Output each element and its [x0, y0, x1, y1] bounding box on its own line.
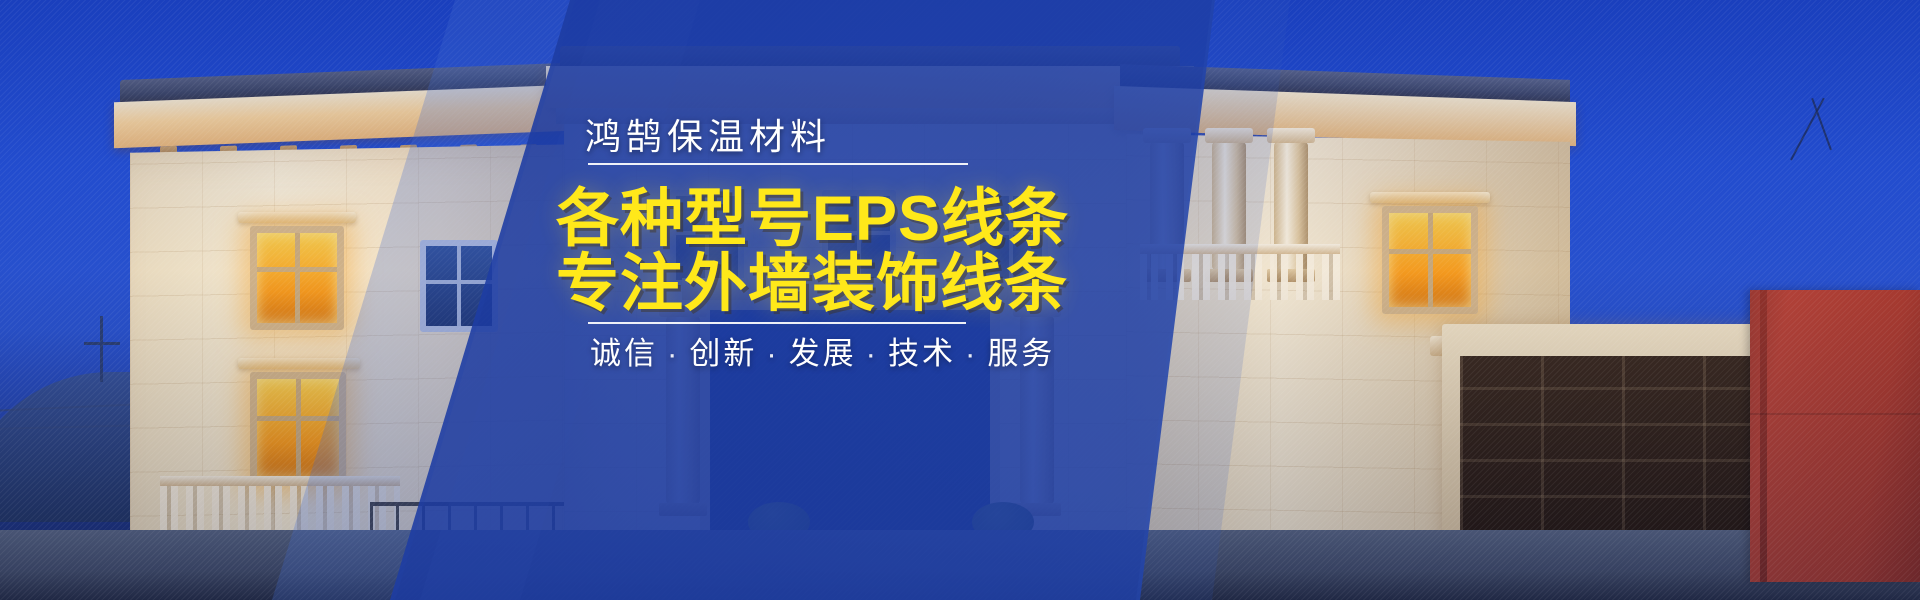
banner-text-block: 鸿鹄保温材料 各种型号EPS线条 专注外墙装饰线条 诚信·创新·发展·技术·服务 — [0, 0, 1920, 600]
slogan-separator: · — [866, 336, 879, 371]
divider-bottom — [588, 322, 966, 324]
hero-banner: 鸿鹄保温材料 各种型号EPS线条 专注外墙装饰线条 诚信·创新·发展·技术·服务 — [0, 0, 1920, 600]
divider-top — [588, 163, 968, 165]
slogan-separator: · — [965, 336, 978, 371]
slogan-item: 发展 — [789, 336, 857, 371]
slogan-item: 服务 — [987, 336, 1055, 371]
slogan-separator: · — [766, 336, 779, 371]
brand-name: 鸿鹄保温材料 — [585, 108, 831, 160]
slogan: 诚信·创新·发展·技术·服务 — [590, 328, 1055, 373]
headline-line-1: 各种型号EPS线条 — [556, 188, 1069, 251]
headline-line-2: 专注外墙装饰线条 — [556, 253, 1068, 316]
slogan-item: 技术 — [888, 336, 956, 371]
slogan-item: 创新 — [689, 336, 757, 371]
slogan-item: 诚信 — [590, 336, 658, 371]
slogan-separator: · — [667, 336, 680, 371]
